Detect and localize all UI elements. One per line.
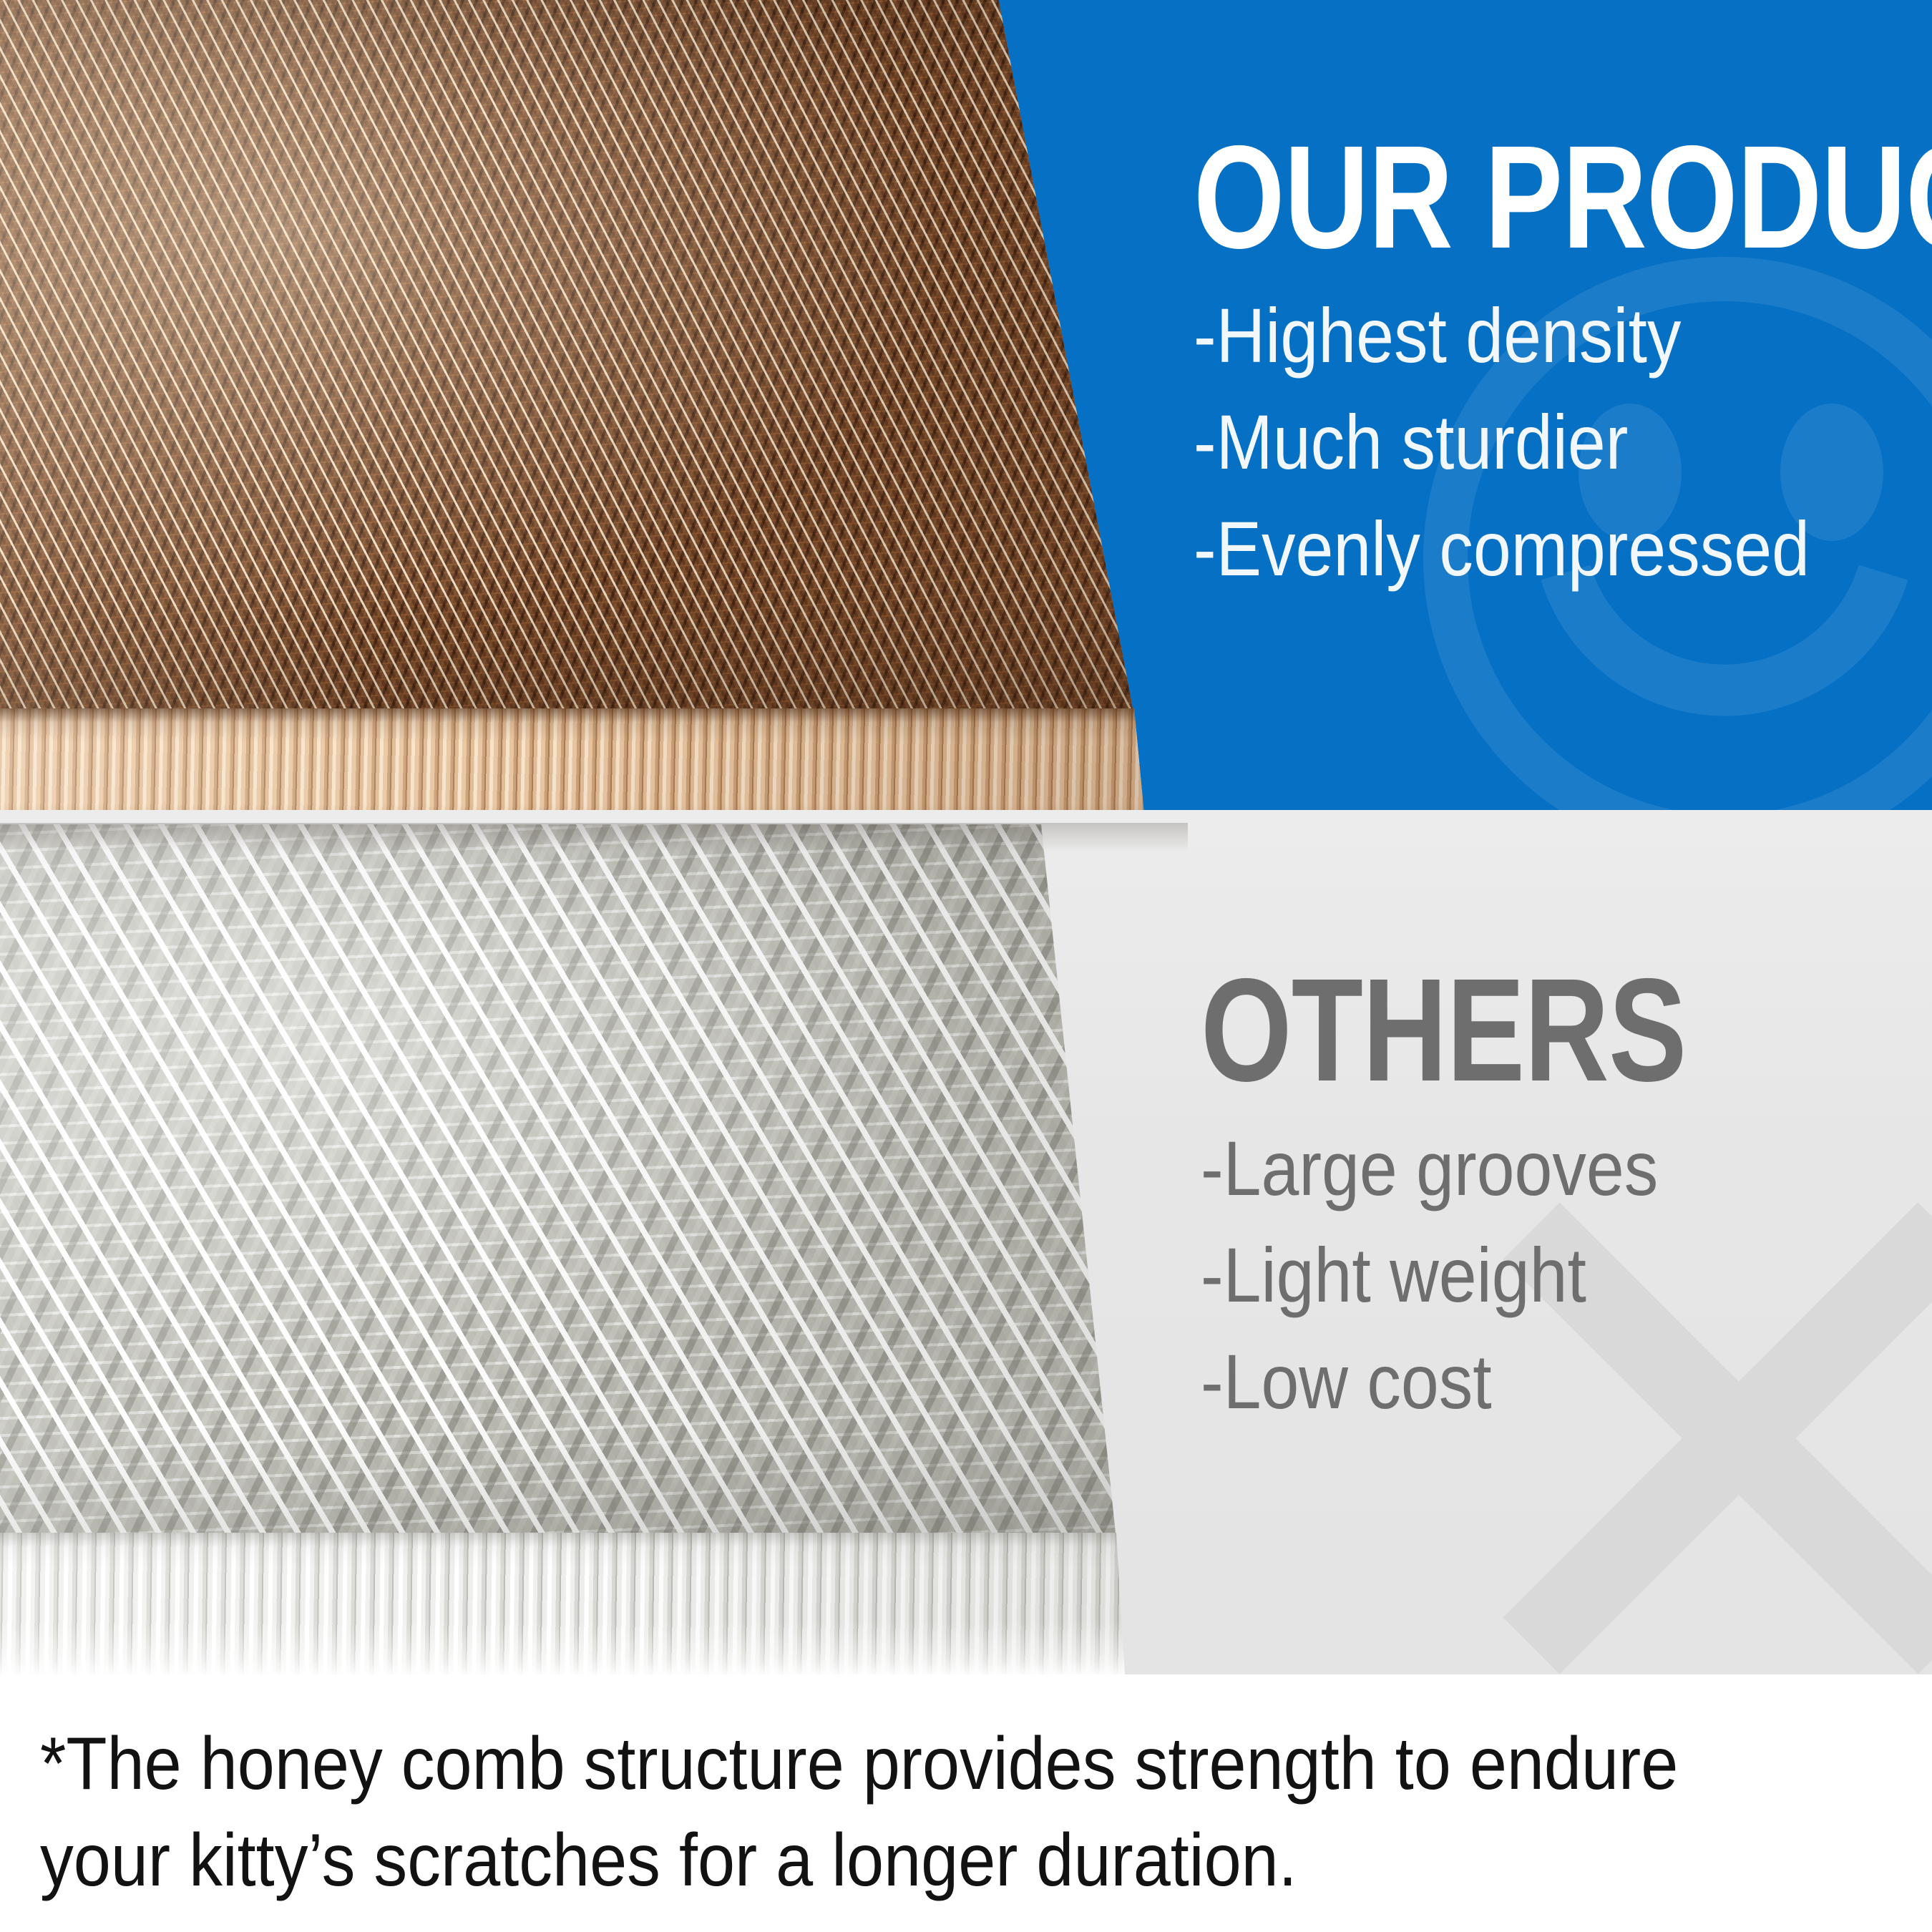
tan-edge-shading <box>0 708 1188 810</box>
white-edge-shading <box>0 1533 1188 1676</box>
tan-slab-lighting <box>0 0 1159 716</box>
footnote-panel: *The honey comb structure provides stren… <box>0 1674 1932 1932</box>
white-slab-lighting <box>0 824 1159 1540</box>
others-heading: OTHERS <box>1201 966 1785 1095</box>
white-slab-edge <box>0 1533 1188 1676</box>
others-text-block: OTHERS -Large grooves -Light weight -Low… <box>1201 966 1931 1435</box>
our-product-bullet-3: -Evenly compressed <box>1194 495 1836 602</box>
our-product-bullet-list: -Highest density -Much sturdier -Evenly … <box>1194 282 1923 602</box>
others-bullet-2: -Light weight <box>1201 1221 1843 1328</box>
footnote-text: *The honey comb structure provides stren… <box>40 1716 1714 1909</box>
others-bullet-3: -Low cost <box>1201 1328 1843 1435</box>
our-product-panel: OUR PRODUCT -Highest density -Much sturd… <box>0 0 1932 810</box>
others-bullet-list: -Large grooves -Light weight -Low cost <box>1201 1115 1931 1435</box>
tan-corrugated-slab <box>0 0 1159 716</box>
our-product-heading: OUR PRODUCT <box>1194 133 1777 262</box>
our-product-text-block: OUR PRODUCT -Highest density -Much sturd… <box>1194 133 1923 602</box>
our-product-bullet-2: -Much sturdier <box>1194 389 1836 495</box>
white-honeycomb-slab <box>0 824 1159 1540</box>
product-comparison-infographic: OUR PRODUCT -Highest density -Much sturd… <box>0 0 1932 1932</box>
tan-slab-edge <box>0 708 1188 810</box>
our-product-bullet-1: -Highest density <box>1194 282 1836 389</box>
others-bullet-1: -Large grooves <box>1201 1115 1843 1221</box>
